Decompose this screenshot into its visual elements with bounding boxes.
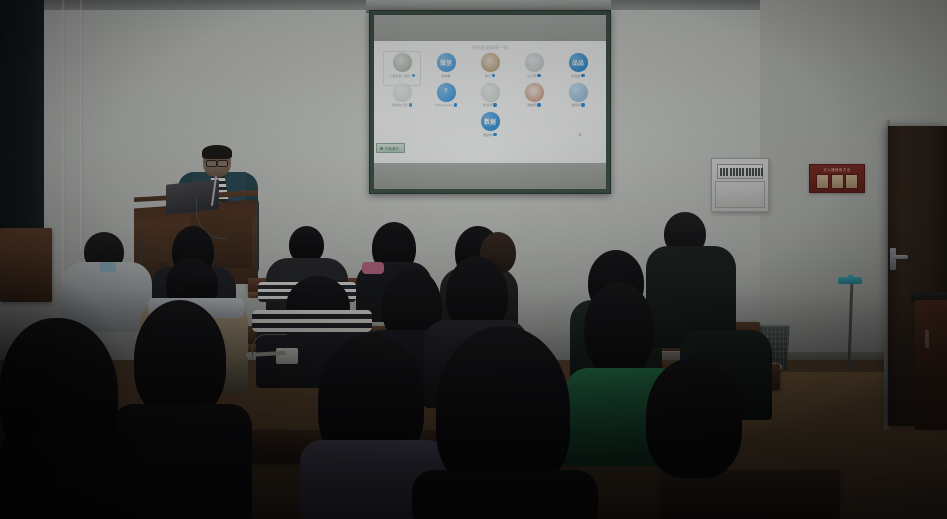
fire-sign-title: 灭火器使用方法	[812, 167, 862, 172]
app-icon-image: 数据	[481, 112, 500, 131]
person-head	[584, 282, 654, 378]
app-icon-label: 学习	[485, 74, 496, 78]
app-icon-row-3: 数据 数据库	[382, 112, 598, 137]
app-icon-cell[interactable]: 数据 数据库	[473, 112, 507, 137]
lecture-hall-photo: 手机应用程序一览 上海某某二维码 微信	[0, 0, 947, 519]
app-icon-label: 微信群	[441, 74, 450, 78]
bench-far-left	[0, 228, 52, 302]
app-icon-label-text: 资料库	[571, 103, 580, 107]
control-panel-window	[717, 164, 763, 179]
app-icon-label-text: 课堂圈	[527, 103, 536, 107]
cabinet-handle[interactable]	[925, 330, 929, 348]
app-icon-cell[interactable]: 移动办公室	[385, 83, 419, 108]
wall-seam-left	[62, 0, 65, 300]
app-icon-image	[393, 53, 412, 72]
switch	[733, 168, 735, 176]
fire-sign-step	[816, 174, 829, 189]
switch	[742, 168, 744, 176]
floor-squeegee-head	[838, 277, 862, 284]
app-icon-label: 上海某某二维码	[389, 74, 415, 78]
app-icon-label-text: 公众号	[527, 74, 536, 78]
app-icon-badge	[537, 74, 540, 77]
fire-sign-step	[845, 174, 858, 189]
app-icon-badge	[454, 103, 457, 106]
switch	[752, 168, 754, 176]
switch	[758, 168, 760, 176]
app-icon-label-text: 作品集	[571, 74, 580, 78]
lens-right	[217, 160, 228, 167]
app-icon-glyph	[393, 53, 412, 72]
fire-sign-steps	[812, 174, 862, 189]
app-icon-label: 数据库	[483, 133, 497, 137]
fire-extinguisher-sign: 灭火器使用方法	[809, 164, 865, 193]
app-icon-cell[interactable]: T This moment	[429, 83, 463, 108]
person-body	[0, 430, 140, 519]
wooden-cabinet	[915, 300, 947, 430]
app-icon-image: 微信	[437, 53, 456, 72]
door-handle[interactable]	[892, 255, 908, 259]
app-icon-image	[569, 83, 588, 102]
app-icon-label: 移动办公室	[392, 103, 412, 107]
control-panel-door[interactable]	[715, 181, 765, 208]
app-icon-cell[interactable]: 新资讯	[473, 83, 507, 108]
app-icon-label-text: 上海某某二维码	[389, 74, 411, 78]
app-icon-badge	[409, 103, 412, 106]
lens-left	[206, 160, 217, 167]
eyeglasses-icon	[206, 160, 228, 165]
app-icon-image	[525, 83, 544, 102]
person-head	[134, 300, 226, 418]
app-icon-glyph: 数据	[481, 112, 500, 131]
app-icon-cell[interactable]: 微信 微信群	[429, 53, 463, 78]
switch	[736, 168, 738, 176]
desk-microphone-arm	[252, 334, 287, 357]
app-icon-badge	[412, 74, 415, 77]
app-icon-glyph	[393, 83, 412, 102]
app-icon-label-text: 学习	[485, 74, 491, 78]
switch	[755, 168, 757, 176]
slide-start-label: 开始演示	[385, 146, 399, 151]
app-icon-label: This moment	[435, 103, 457, 107]
app-icon-glyph	[525, 53, 544, 72]
app-icon-image: T	[437, 83, 456, 102]
app-icon-label-text: 移动办公室	[392, 103, 407, 107]
switch	[761, 168, 763, 176]
person-striped-top	[252, 310, 372, 332]
app-icon-glyph: 品品	[569, 53, 588, 72]
app-icon-glyph	[569, 83, 588, 102]
app-icon-glyph	[525, 83, 544, 102]
switch	[739, 168, 741, 176]
app-icon-row-2: 移动办公室 T This moment	[382, 83, 598, 108]
app-icon-cell[interactable]: 上海某某二维码	[385, 53, 419, 78]
screen-top-band	[374, 15, 606, 41]
person-body	[412, 470, 598, 519]
app-icon-glyph	[481, 83, 500, 102]
app-icon-label-text: 新资讯	[483, 103, 492, 107]
switch	[746, 168, 748, 176]
switch	[726, 168, 728, 176]
app-icon-label: 作品集	[571, 74, 585, 78]
person-head	[185, 268, 215, 298]
slide-canvas: 手机应用程序一览 上海某某二维码 微信	[374, 41, 606, 163]
switch	[720, 168, 722, 176]
projection-screen: 手机应用程序一览 上海某某二维码 微信	[369, 10, 611, 194]
app-icon-badge	[493, 103, 496, 106]
app-icon-cell[interactable]: 公众号	[517, 53, 551, 78]
app-icon-glyph: 微信	[437, 53, 456, 72]
app-icon-cell[interactable]: 资料库	[561, 83, 595, 108]
person-head	[436, 326, 570, 492]
control-panel-switches[interactable]	[720, 168, 763, 176]
door-lock-icon	[890, 248, 896, 270]
app-icon-cell[interactable]: 课堂圈	[517, 83, 551, 108]
app-icon-label-text: 数据库	[483, 133, 492, 137]
app-icon-image	[525, 53, 544, 72]
app-icon-cell[interactable]: 学习	[473, 53, 507, 78]
person-scarf	[362, 262, 384, 274]
app-icon-label-text: This moment	[435, 103, 453, 107]
switch	[723, 168, 725, 176]
slide-start-button[interactable]: 开始演示	[376, 143, 405, 153]
app-icon-image	[481, 83, 500, 102]
screen-bottom-band	[374, 163, 606, 189]
app-icon-row-1: 上海某某二维码 微信 微信群	[382, 53, 598, 78]
wall-seam-left-2	[80, 0, 83, 250]
fire-sign-step	[831, 174, 844, 189]
app-icon-badge	[493, 133, 496, 136]
slide-start-dot	[380, 147, 383, 150]
switch	[730, 168, 732, 176]
app-icon-badge	[581, 103, 584, 106]
app-icon-grid: 上海某某二维码 微信 微信群	[382, 53, 598, 142]
face-mask	[100, 262, 116, 272]
speaker-hair	[202, 145, 232, 159]
switch	[749, 168, 751, 176]
app-icon-image	[481, 53, 500, 72]
app-icon-label: 公众号	[527, 74, 541, 78]
app-icon-glyph: T	[437, 83, 456, 102]
app-icon-badge	[581, 74, 584, 77]
app-icon-label-text: 微信群	[441, 74, 450, 78]
app-icon-label: 新资讯	[483, 103, 497, 107]
person-head	[646, 358, 742, 478]
app-icon-cell[interactable]: 品品 作品集	[561, 53, 595, 78]
app-icon-glyph	[481, 53, 500, 72]
app-icon-image: 品品	[569, 53, 588, 72]
app-icon-label: 资料库	[571, 103, 585, 107]
app-icon-badge	[537, 103, 540, 106]
app-icon-image	[393, 83, 412, 102]
app-icon-label: 课堂圈	[527, 103, 541, 107]
app-icon-badge	[492, 74, 495, 77]
